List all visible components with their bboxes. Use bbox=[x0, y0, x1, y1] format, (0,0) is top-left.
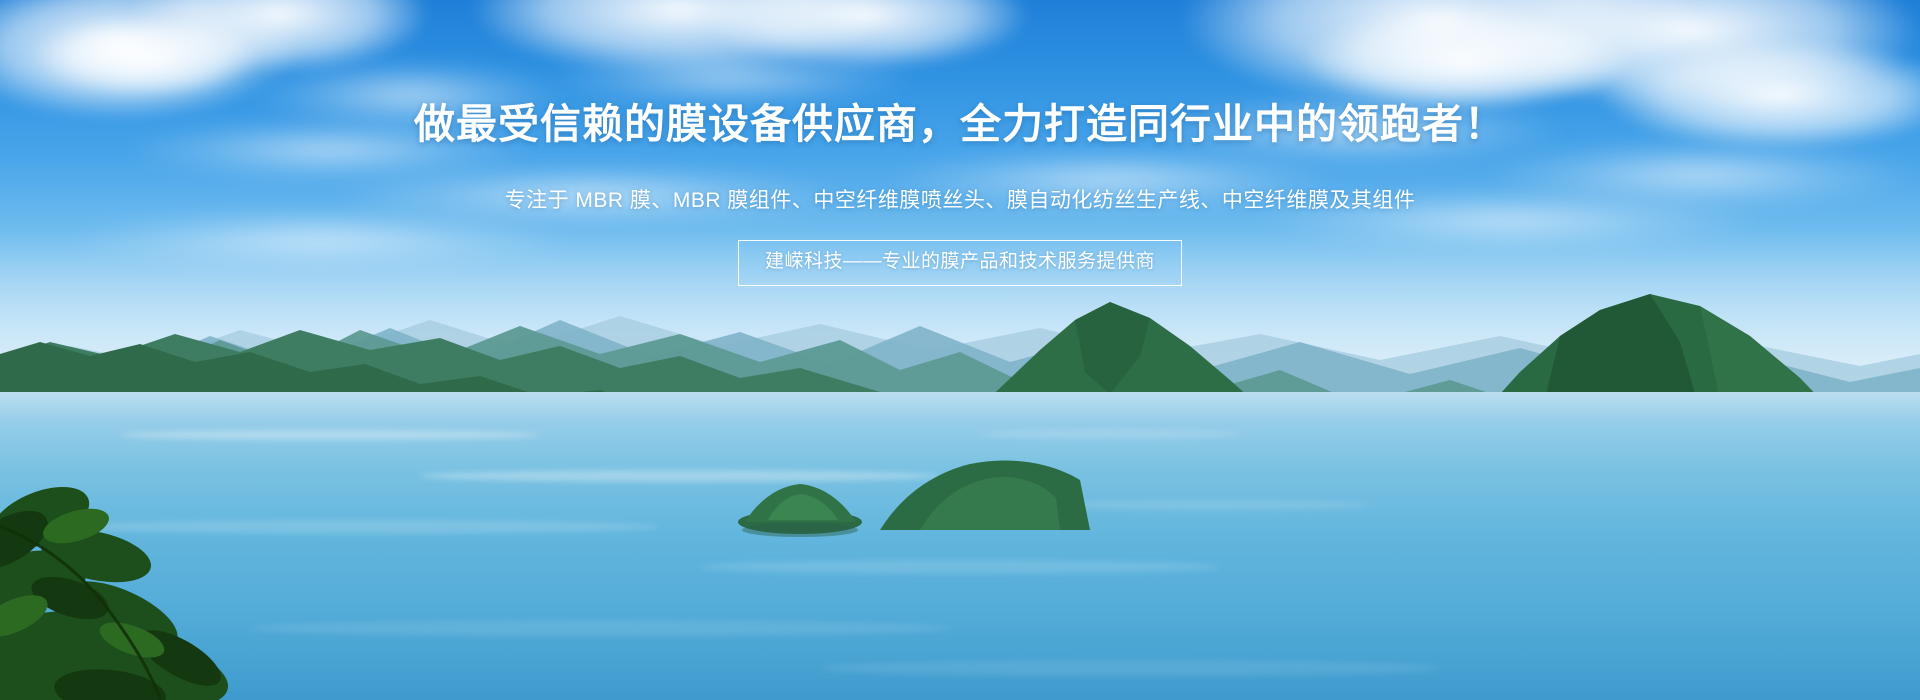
page-title: 做最受信赖的膜设备供应商，全力打造同行业中的领跑者！ bbox=[0, 100, 1920, 148]
tagline-badge: 建嵘科技——专业的膜产品和技术服务提供商 bbox=[738, 240, 1182, 286]
lake-water bbox=[0, 392, 1920, 700]
hero-banner: 做最受信赖的膜设备供应商，全力打造同行业中的领跑者！ 专注于 MBR 膜、MBR… bbox=[0, 0, 1920, 700]
page-subtitle: 专注于 MBR 膜、MBR 膜组件、中空纤维膜喷丝头、膜自动化纺丝生产线、中空纤… bbox=[0, 186, 1920, 216]
tagline-container: 建嵘科技——专业的膜产品和技术服务提供商 bbox=[0, 240, 1920, 286]
